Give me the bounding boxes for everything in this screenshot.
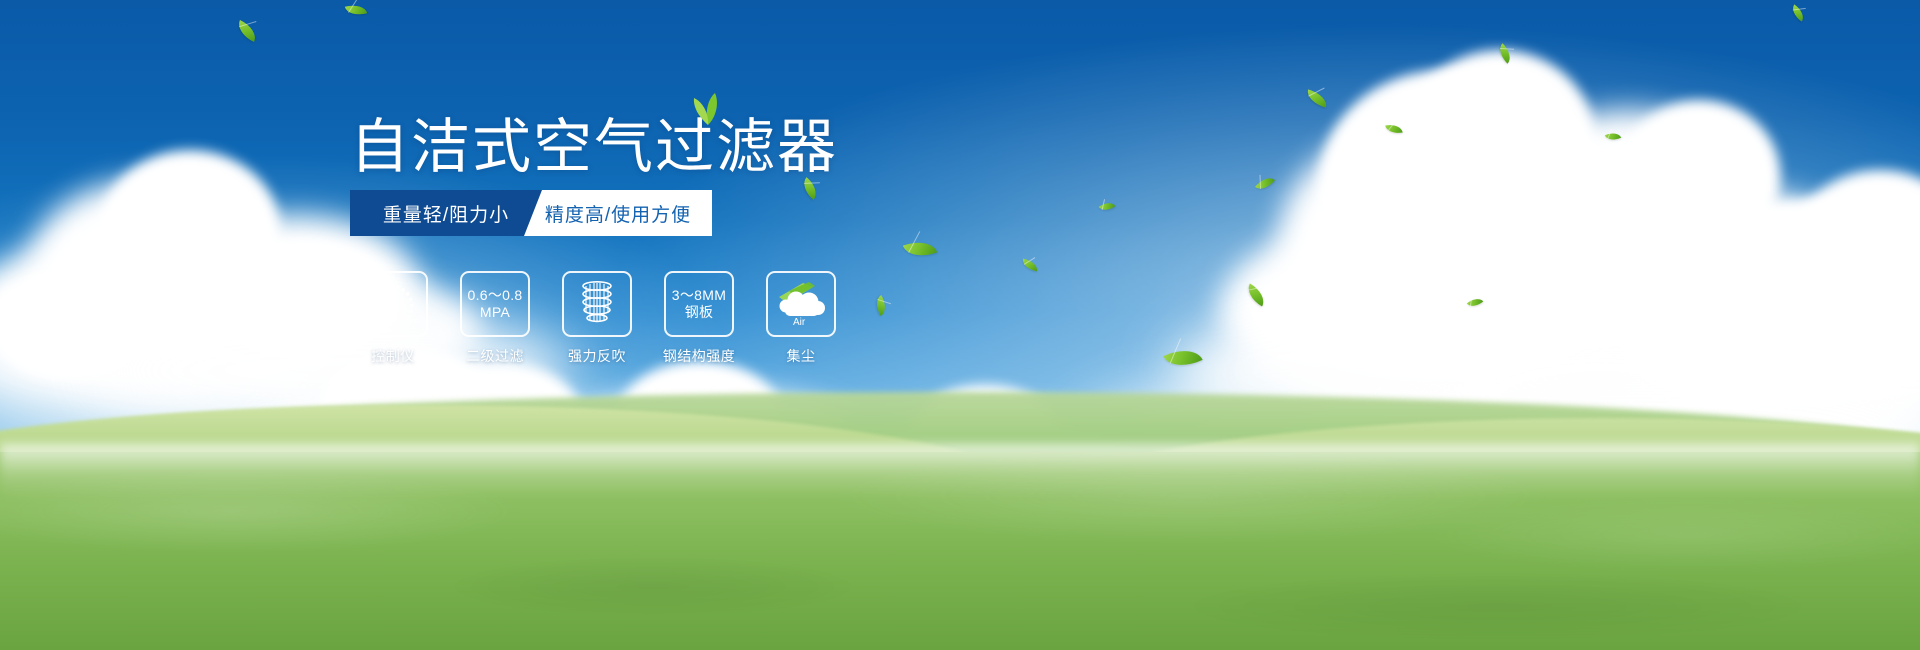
- feature-item-dust-collection[interactable]: Air 集尘: [765, 271, 837, 366]
- feature-icon-box: Air: [766, 271, 836, 337]
- feature-caption: 钢结构强度: [663, 346, 736, 366]
- air-label: Air: [793, 317, 806, 327]
- feature-icon-box: 3～8MM 钢板: [664, 271, 734, 337]
- feature-caption: 二级过滤: [466, 346, 524, 366]
- steel-plate-line2: 钢板: [685, 304, 714, 321]
- gauge-dial-icon: NO OFF: [364, 279, 422, 329]
- feature-tabs: 重量轻/阻力小 精度高/使用方便: [350, 190, 712, 236]
- feature-item-controller[interactable]: NO OFF 控制仪: [357, 271, 429, 366]
- coil-filter-icon: [575, 279, 619, 329]
- feature-item-secondary-filter[interactable]: 0.6～0.8 MPA 二级过滤: [459, 271, 531, 366]
- feature-caption: 强力反吹: [568, 346, 626, 366]
- pressure-value-line1: 0.6～0.8: [467, 287, 522, 304]
- tab-lightweight-low-resistance[interactable]: 重量轻/阻力小: [350, 190, 542, 236]
- feature-icon-row: NO OFF 控制仪 0.6～0.8 MPA 二级过滤: [357, 271, 837, 366]
- gauge-right-label: OFF: [405, 319, 419, 326]
- feature-item-strong-blowback[interactable]: 强力反吹: [561, 271, 633, 366]
- tab-high-precision-easy-use[interactable]: 精度高/使用方便: [524, 190, 712, 236]
- page-title: 自洁式空气过滤器: [350, 118, 838, 177]
- gauge-left-label: NO: [368, 298, 379, 307]
- cloud-air-icon: Air: [773, 281, 829, 327]
- banner-content: 自洁式空气过滤器 重量轻/阻力小 精度高/使用方便: [0, 0, 1920, 650]
- feature-caption: 集尘: [787, 346, 816, 366]
- feature-icon-box: [562, 271, 632, 337]
- feature-icon-box: NO OFF: [358, 271, 428, 337]
- feature-caption: 控制仪: [371, 346, 415, 366]
- steel-plate-line1: 3～8MM: [672, 287, 726, 304]
- feature-icon-box: 0.6～0.8 MPA: [460, 271, 530, 337]
- leaf-icon: [685, 92, 731, 126]
- product-banner: 自洁式空气过滤器 重量轻/阻力小 精度高/使用方便: [0, 0, 1920, 650]
- feature-item-steel-strength[interactable]: 3～8MM 钢板 钢结构强度: [663, 271, 735, 366]
- pressure-value-line2: MPA: [480, 304, 510, 321]
